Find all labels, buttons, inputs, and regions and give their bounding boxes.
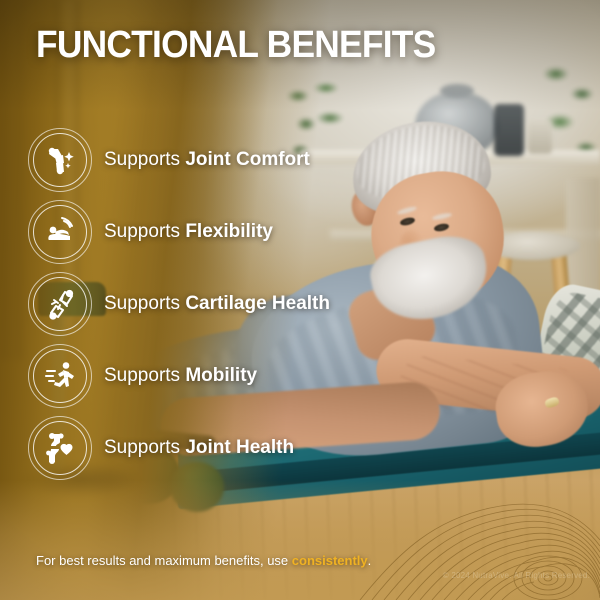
footer-note: For best results and maximum benefits, u… [36,553,371,568]
benefit-strong-text: Flexibility [185,221,273,242]
benefit-strong-text: Mobility [185,365,257,386]
footer-note-lead: For best results and maximum benefits, u… [36,553,292,568]
benefit-label: Supports Joint Health [104,437,294,458]
cartilage-bone-icon [28,272,92,336]
benefit-lead-text: Supports [104,437,185,458]
benefits-list: Supports Joint Comfort [28,128,388,488]
benefit-item-cartilage-health: Supports Cartilage Health [28,272,388,336]
page-title: FUNCTIONAL BENEFITS [36,24,435,67]
stretching-body-icon [28,200,92,264]
benefit-label: Supports Cartilage Health [104,293,330,314]
benefit-item-joint-comfort: Supports Joint Comfort [28,128,388,192]
functional-benefits-poster: FUNCTIONAL BENEFITS [0,0,600,600]
benefit-label: Supports Flexibility [104,221,273,242]
benefit-lead-text: Supports [104,149,185,170]
benefit-strong-text: Cartilage Health [185,293,330,314]
benefit-item-mobility: Supports Mobility [28,344,388,408]
running-person-icon [28,344,92,408]
benefit-label: Supports Joint Comfort [104,149,310,170]
benefit-lead-text: Supports [104,293,185,314]
benefit-strong-text: Joint Health [185,437,294,458]
joint-heart-icon [28,416,92,480]
benefit-strong-text: Joint Comfort [185,149,310,170]
benefit-item-joint-health: Supports Joint Health [28,416,388,480]
benefit-label: Supports Mobility [104,365,257,386]
footer-note-tail: . [368,553,372,568]
footer-note-highlight: consistently [292,553,368,568]
benefit-item-flexibility: Supports Flexibility [28,200,388,264]
benefit-lead-text: Supports [104,221,185,242]
knee-joint-icon [28,128,92,192]
copyright-text: © 2024 NutraVive. All Rights Reserved. [443,571,590,580]
benefit-lead-text: Supports [104,365,185,386]
